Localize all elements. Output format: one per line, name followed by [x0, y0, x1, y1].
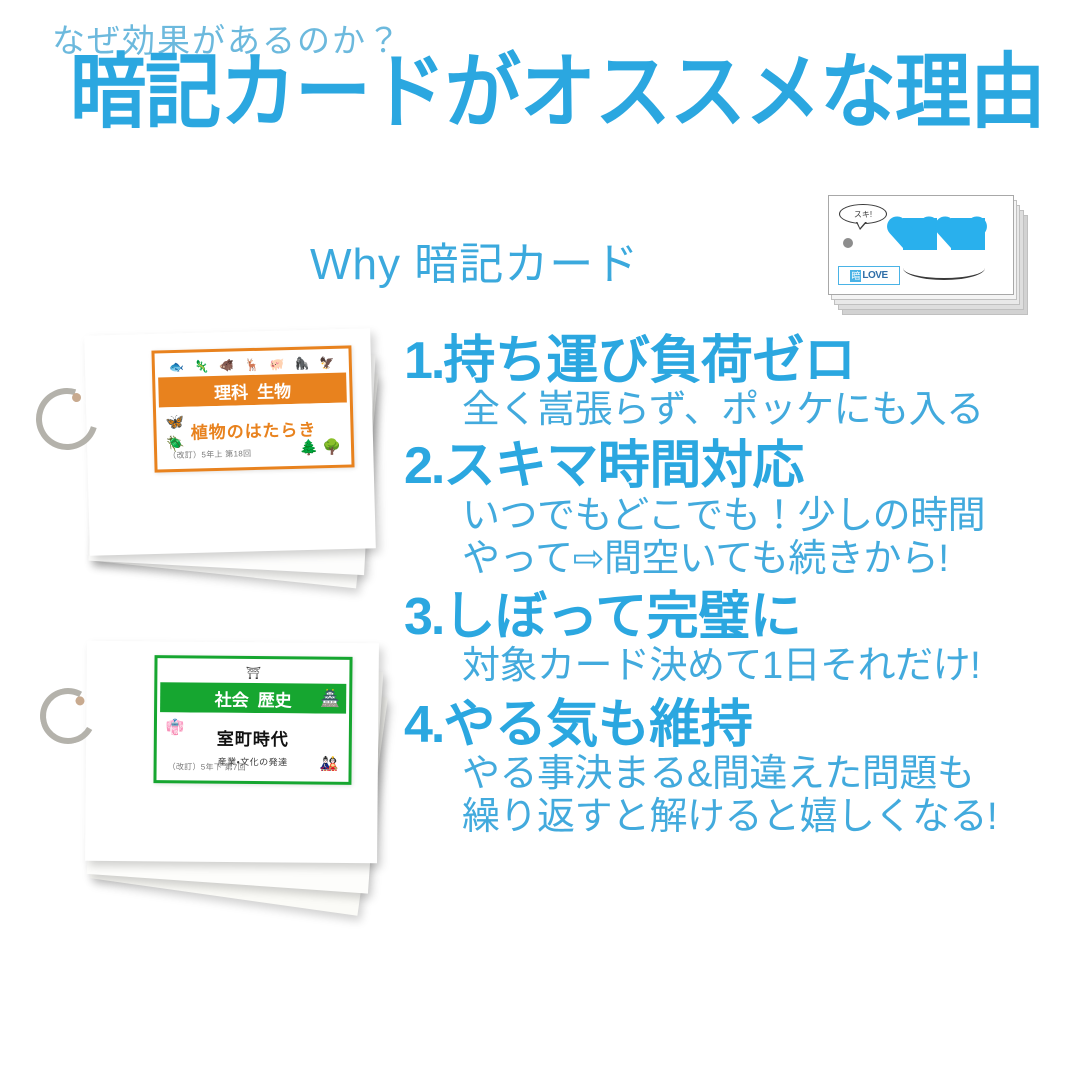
flashcard-face-history: ⛩ 社会 歴史 🏯 👘 🎎 室町時代 産業・文化の発達 （改訂）5年下 第7回 [153, 655, 352, 785]
heart-eye-right-icon [951, 218, 985, 250]
gorilla-icon: 🦍 [294, 357, 309, 369]
pine-tree-icon: 🌲 [299, 438, 318, 456]
benefit-heading-4: 4.やる気も維持 [404, 697, 1044, 753]
fish-icon: 🐟 [169, 360, 184, 372]
love-badge-word: LOVE [862, 270, 887, 281]
flashcard-bundle-science: 🐟 🦎 🐗 🦌 🐖 🦍 🦅 理科 生物 🦋 🪲 🌲 🌳 [84, 330, 394, 590]
lizard-icon: 🦎 [194, 360, 209, 372]
benefit-heading-2: 2.スキマ時間対応 [404, 438, 1044, 494]
subject-label: 社会 [215, 685, 249, 710]
benefit-heading-3: 3.しぼって完璧に [404, 589, 1044, 645]
benefit-title-1: 持ち運び負荷ゼロ [443, 332, 855, 390]
temple-icon: 🏯 [320, 689, 340, 709]
benefit-desc-4-line-1: やる事決まる&間違えた問題も [404, 753, 1044, 796]
benefit-title-2: スキマ時間対応 [443, 437, 804, 495]
category-label: 歴史 [258, 686, 292, 711]
benefit-number-2: 2. [404, 437, 443, 495]
flashcard-meta-science: （改訂）5年上 第18回 [168, 448, 251, 461]
love-badge: 暗 LOVE [838, 266, 900, 285]
poster-root: なぜ効果があるのか？ 暗記カードがオススメな理由 Why 暗記カード スキ! 暗… [0, 0, 1078, 1080]
deer-icon: 🦌 [244, 358, 259, 370]
why-label: Why 暗記カード [310, 228, 639, 292]
benefit-item-1: 1.持ち運び負荷ゼロ 全く嵩張らず、ポッケにも入る [404, 333, 1044, 432]
boar-icon: 🐗 [219, 359, 234, 371]
benefit-item-3: 3.しぼって完璧に 対象カード決めて1日それだけ! [404, 589, 1044, 688]
dolls-icon: 🎎 [320, 755, 339, 773]
benefit-title-4: やる気も維持 [443, 696, 752, 754]
nose-dot-icon [843, 238, 853, 248]
subject-label: 理科 [214, 378, 249, 404]
love-card-stack: スキ! 暗 LOVE [828, 195, 1030, 317]
benefit-desc-3-line-1: 対象カード決めて1日それだけ! [404, 645, 1044, 688]
shrine-gate-icon: ⛩ [246, 666, 261, 678]
bird-icon: 🦅 [320, 356, 335, 368]
flashcard-body-history: 👘 🎎 室町時代 産業・文化の発達 （改訂）5年下 第7回 [159, 712, 346, 779]
flashcard-body-science: 🦋 🪲 🌲 🌳 植物のはたらき （改訂）5年上 第18回 [159, 403, 348, 467]
benefit-number-4: 4. [404, 696, 443, 754]
flashcard-title-history: 室町時代 [217, 725, 289, 751]
subject-bar-science: 理科 生物 [158, 373, 347, 408]
page-title: 暗記カードがオススメな理由 [70, 52, 1045, 134]
benefit-desc-4-line-2: 繰り返すと解けると嬉しくなる! [404, 796, 1044, 839]
benefit-title-3: しぼって完璧に [443, 588, 801, 646]
subject-bar-history: 社会 歴史 🏯 [160, 682, 346, 714]
heart-eye-left-icon [903, 218, 937, 250]
benefit-desc-1-line-1: 全く嵩張らず、ポッケにも入る [404, 389, 1044, 432]
benefit-list: 1.持ち運び負荷ゼロ 全く嵩張らず、ポッケにも入る 2.スキマ時間対応 いつでも… [404, 333, 1044, 842]
love-card-front: スキ! 暗 LOVE [828, 195, 1014, 295]
benefit-number-1: 1. [404, 332, 443, 390]
benefit-heading-1: 1.持ち運び負荷ゼロ [404, 333, 1044, 389]
speech-bubble: スキ! [839, 204, 887, 224]
flashcard-face-science: 🐟 🦎 🐗 🦌 🐖 🦍 🦅 理科 生物 🦋 🪲 🌲 🌳 [151, 345, 354, 472]
benefit-number-3: 3. [404, 588, 443, 646]
flashcard-meta-history: （改訂）5年下 第7回 [168, 761, 247, 773]
category-label: 生物 [257, 377, 292, 403]
butterfly-icon: 🦋 [165, 413, 184, 431]
pig-icon: 🐖 [269, 358, 284, 370]
love-badge-kanji: 暗 [850, 270, 861, 282]
tree-icon: 🌳 [322, 438, 341, 456]
kimono-icon: 👘 [166, 718, 185, 736]
history-icon-strip: ⛩ [160, 661, 346, 684]
benefit-desc-2-line-1: いつでもどこでも！少しの時間 [404, 495, 1044, 538]
benefit-item-2: 2.スキマ時間対応 いつでもどこでも！少しの時間 やって⇨間空いても続きから! [404, 438, 1044, 581]
smile-mouth-icon [903, 256, 985, 280]
flashcard-title-science: 植物のはたらき [190, 415, 316, 443]
benefit-item-4: 4.やる気も維持 やる事決まる&間違えた問題も 繰り返すと解けると嬉しくなる! [404, 697, 1044, 840]
flashcard-bundle-history: ⛩ 社会 歴史 🏯 👘 🎎 室町時代 産業・文化の発達 （改訂）5年下 第7回 [82, 638, 402, 908]
benefit-desc-2-line-2: やって⇨間空いても続きから! [404, 538, 1044, 581]
